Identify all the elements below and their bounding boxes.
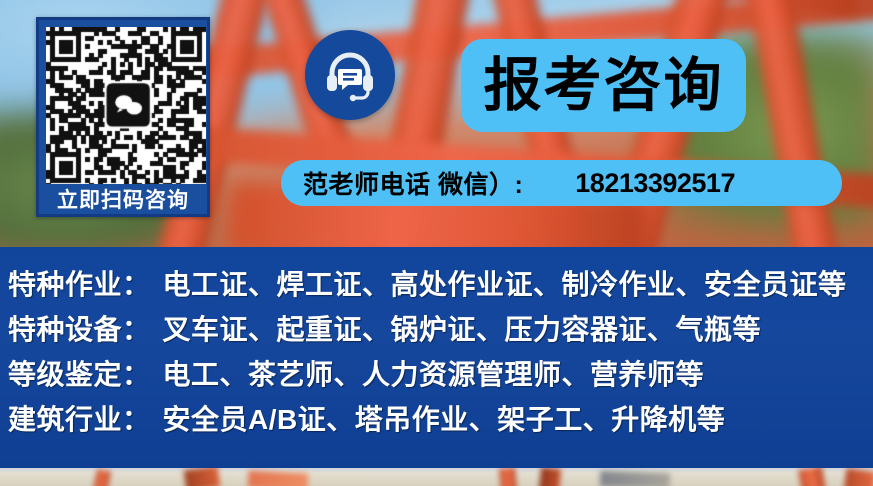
consult-title-label: 报考咨询 <box>483 57 723 115</box>
service-line: 特种设备： 叉车证、起重证、锅炉证、压力容器证、气瓶等 <box>8 308 873 353</box>
service-items: 电工证、焊工证、高处作业证、制冷作业、安全员证等 <box>163 263 847 303</box>
crane-beam <box>93 469 111 486</box>
crane-beam <box>499 468 517 486</box>
service-line: 建筑行业： 安全员A/B证、塔吊作业、架子工、升降机等 <box>8 398 873 443</box>
crane-beam <box>844 468 873 486</box>
service-category: 建筑行业： <box>8 398 151 438</box>
promo-banner: 立即扫码咨询 报考咨询 范老师电话 微信）: 182 <box>0 0 873 486</box>
service-items: 叉车证、起重证、锅炉证、压力容器证、气瓶等 <box>163 308 762 348</box>
service-line: 特种作业： 电工证、焊工证、高处作业证、制冷作业、安全员证等 <box>8 263 873 308</box>
crane-beam <box>600 471 671 486</box>
contact-phone-number[interactable]: 18213392517 <box>575 168 735 199</box>
service-list-panel: 特种作业： 电工证、焊工证、高处作业证、制冷作业、安全员证等 特种设备： 叉车证… <box>0 247 873 468</box>
crane-beam <box>248 470 309 486</box>
qr-code-canvas[interactable] <box>46 27 206 184</box>
service-category: 特种设备： <box>8 308 151 348</box>
headset-badge <box>305 30 395 120</box>
qr-card[interactable]: 立即扫码咨询 <box>36 17 210 217</box>
service-items: 电工、茶艺师、人力资源管理师、营养师等 <box>163 353 705 393</box>
service-category: 等级鉴定： <box>8 353 151 393</box>
service-items: 安全员A/B证、塔吊作业、架子工、升降机等 <box>163 398 726 438</box>
contact-pill[interactable]: 范老师电话 微信）: 18213392517 <box>281 160 842 206</box>
consult-title-pill[interactable]: 报考咨询 <box>461 39 746 132</box>
crane-beam <box>798 468 826 486</box>
qr-code-icon[interactable] <box>46 27 206 184</box>
service-category: 特种作业： <box>8 263 151 303</box>
qr-card-label: 立即扫码咨询 <box>46 184 200 218</box>
crane-beam <box>539 468 561 486</box>
crane-beam <box>184 468 221 486</box>
bottom-photo-strip <box>0 468 873 486</box>
service-line: 等级鉴定： 电工、茶艺师、人力资源管理师、营养师等 <box>8 353 873 398</box>
contact-label: 范老师电话 微信）: <box>303 165 523 201</box>
